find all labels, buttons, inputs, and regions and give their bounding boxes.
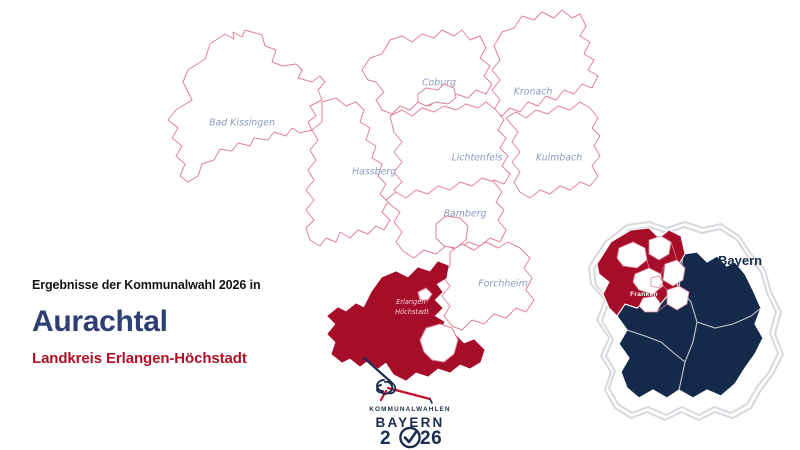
election-logo: KOMMUNALWAHLEN BAYERN 2 26 (358, 358, 463, 446)
district-label-kronach: Kronach (514, 87, 553, 98)
logo-year-suffix: 26 (420, 428, 442, 449)
district-label-forchheim: Forchheim (478, 279, 528, 290)
district-shape-kronach[interactable] (492, 10, 598, 116)
inset-label-franken: Franken (630, 291, 658, 298)
check-circle-icon (400, 428, 419, 447)
logo-year-prefix: 2 (380, 428, 391, 449)
main-map: Bad Kissingen Hassberge Coburg Kronach L… (150, 10, 600, 400)
district-label-erlangen-hoechstadt-line1: Erlangen- (396, 298, 428, 306)
logo-line-kommunalwahlen: KOMMUNALWAHLEN (369, 406, 450, 413)
check-icon (405, 432, 416, 442)
district-shape-bad-kissingen[interactable] (168, 30, 325, 182)
poster-canvas: Ergebnisse der Kommunalwahl 2026 in Aura… (0, 0, 800, 450)
logo-hand-icon (364, 358, 391, 382)
district-label-bad-kissingen: Bad Kissingen (209, 118, 275, 129)
bayern-inset-map: Franken Bayern (575, 212, 800, 447)
district-label-lichtenfels: Lichtenfels (452, 153, 503, 164)
district-shape-kulmbach[interactable] (506, 102, 600, 198)
inset-label-bayern: Bayern (718, 253, 762, 268)
logo-pen-tip-icon (430, 399, 432, 403)
district-label-erlangen-hoechstadt-line2: Höchstadt (395, 308, 429, 316)
district-label-kulmbach: Kulmbach (536, 153, 582, 164)
